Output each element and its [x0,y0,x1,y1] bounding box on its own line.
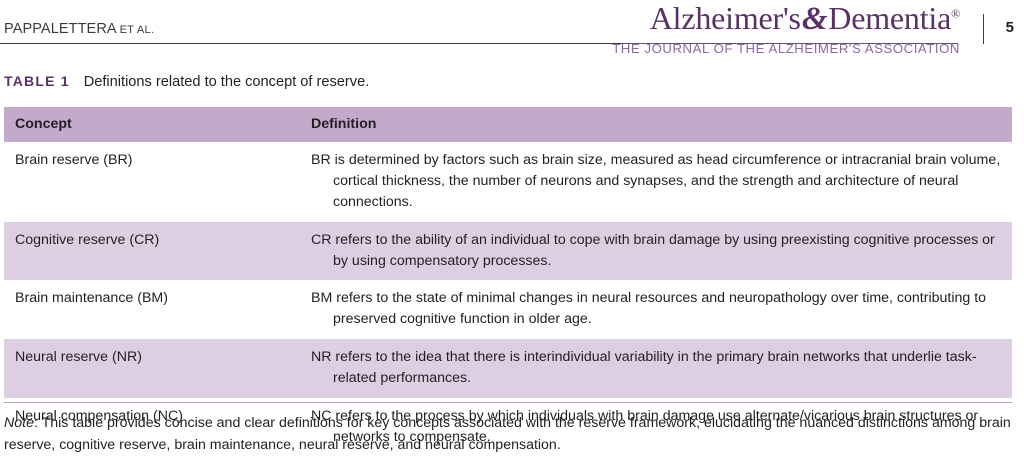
cell-definition-text: CR refers to the ability of an individua… [311,230,1006,272]
table-row: Brain maintenance (BM)BM refers to the s… [4,280,1012,339]
running-head-author: PAPPALETTERAET AL. [4,20,154,38]
author-surname: PAPPALETTERA [4,21,117,37]
cell-concept: Brain maintenance (BM) [4,280,307,339]
table-note: Note: This table provides concise and cl… [4,412,1016,456]
cell-definition: BM refers to the state of minimal change… [307,280,1012,339]
journal-subtitle: THE JOURNAL OF THE ALZHEIMER'S ASSOCIATI… [612,42,960,55]
journal-title-ampersand: & [801,1,828,37]
journal-title: Alzheimer's&Dementia® [612,2,960,36]
page-number-divider [983,14,984,44]
cell-definition-text: NR refers to the idea that there is inte… [311,347,1006,389]
table-caption: TABLE 1Definitions related to the concep… [4,73,369,90]
table-header: Concept Definition [4,107,1012,142]
cell-definition-text: BR is determined by factors such as brai… [311,150,1006,213]
author-etal: ET AL. [120,24,155,36]
cell-concept: Brain reserve (BR) [4,142,307,222]
table-body: Brain reserve (BR)BR is determined by fa… [4,142,1012,457]
cell-definition-text: BM refers to the state of minimal change… [311,288,1006,330]
table-note-label: Note [4,415,34,431]
cell-definition: NR refers to the idea that there is inte… [307,339,1012,398]
cell-concept: Cognitive reserve (CR) [4,222,307,281]
table-header-row: Concept Definition [4,107,1012,142]
table-bottom-rule [4,402,1012,403]
table-row: Brain reserve (BR)BR is determined by fa… [4,142,1012,222]
journal-masthead: Alzheimer's&Dementia® THE JOURNAL OF THE… [612,2,960,55]
definitions-table: Concept Definition Brain reserve (BR)BR … [4,107,1012,457]
journal-title-part2: Dementia [828,0,951,36]
table-note-text: : This table provides concise and clear … [4,415,1011,453]
journal-title-part1: Alzheimer's [650,0,801,36]
column-header-concept: Concept [4,107,307,142]
cell-definition: BR is determined by factors such as brai… [307,142,1012,222]
cell-definition: CR refers to the ability of an individua… [307,222,1012,281]
registered-trademark-icon: ® [951,6,960,20]
column-header-definition: Definition [307,107,1012,142]
running-head: PAPPALETTERAET AL. Alzheimer's&Dementia®… [0,0,1024,56]
table-caption-label: TABLE 1 [4,73,70,89]
table-row: Neural reserve (NR)NR refers to the idea… [4,339,1012,398]
table-caption-text: Definitions related to the concept of re… [84,74,370,90]
header-rule-black [0,43,626,44]
cell-concept: Neural reserve (NR) [4,339,307,398]
page-number: 5 [1006,19,1014,36]
table-row: Cognitive reserve (CR)CR refers to the a… [4,222,1012,281]
